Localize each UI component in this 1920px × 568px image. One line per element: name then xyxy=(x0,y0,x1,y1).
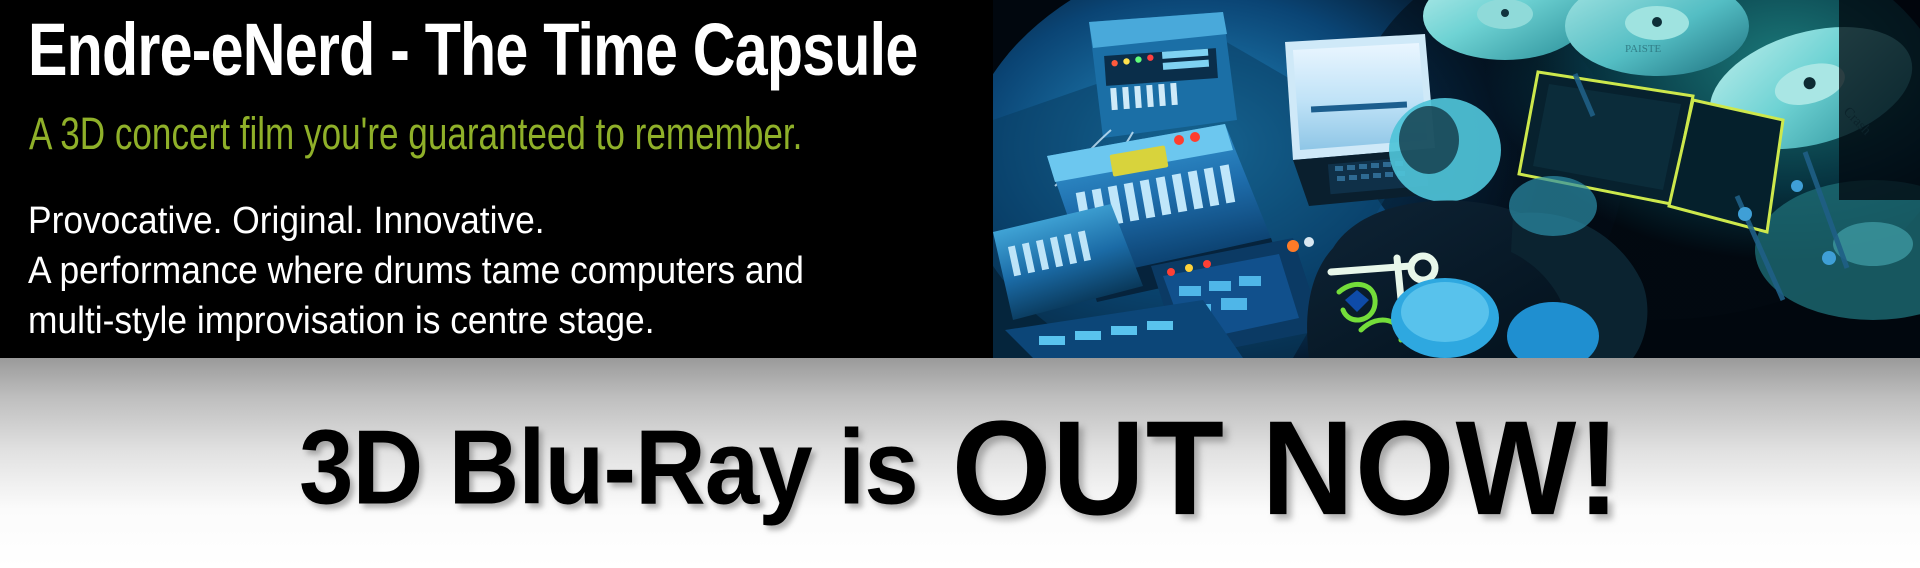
cta-main-text: OUT NOW! xyxy=(952,391,1621,545)
body-line-2: A performance where drums tame computers… xyxy=(28,246,912,296)
banner-top-section: Endre-eNerd - The Time Capsule A 3D conc… xyxy=(0,0,1920,358)
banner-tagline: A 3D concert film you're guaranteed to r… xyxy=(29,108,802,160)
call-to-action-text: 3D Blu-Ray is OUT NOW! xyxy=(0,358,1920,568)
call-to-action-bar: 3D Blu-Ray is OUT NOW! xyxy=(0,358,1920,568)
banner-body-text: Provocative. Original. Innovative. A per… xyxy=(28,196,978,346)
cta-lead-text: 3D Blu-Ray is xyxy=(299,406,918,528)
body-line-3: multi-style improvisation is centre stag… xyxy=(28,296,912,346)
promo-banner: Endre-eNerd - The Time Capsule A 3D conc… xyxy=(0,0,1920,568)
concert-stage-photo: PAISTE Crash xyxy=(993,0,1920,358)
stage-photo-artwork: PAISTE Crash xyxy=(993,0,1920,358)
svg-text:PAISTE: PAISTE xyxy=(1625,43,1662,55)
banner-text-block: Endre-eNerd - The Time Capsule A 3D conc… xyxy=(0,0,993,358)
body-line-1: Provocative. Original. Innovative. xyxy=(28,196,912,246)
banner-title: Endre-eNerd - The Time Capsule xyxy=(28,8,917,92)
